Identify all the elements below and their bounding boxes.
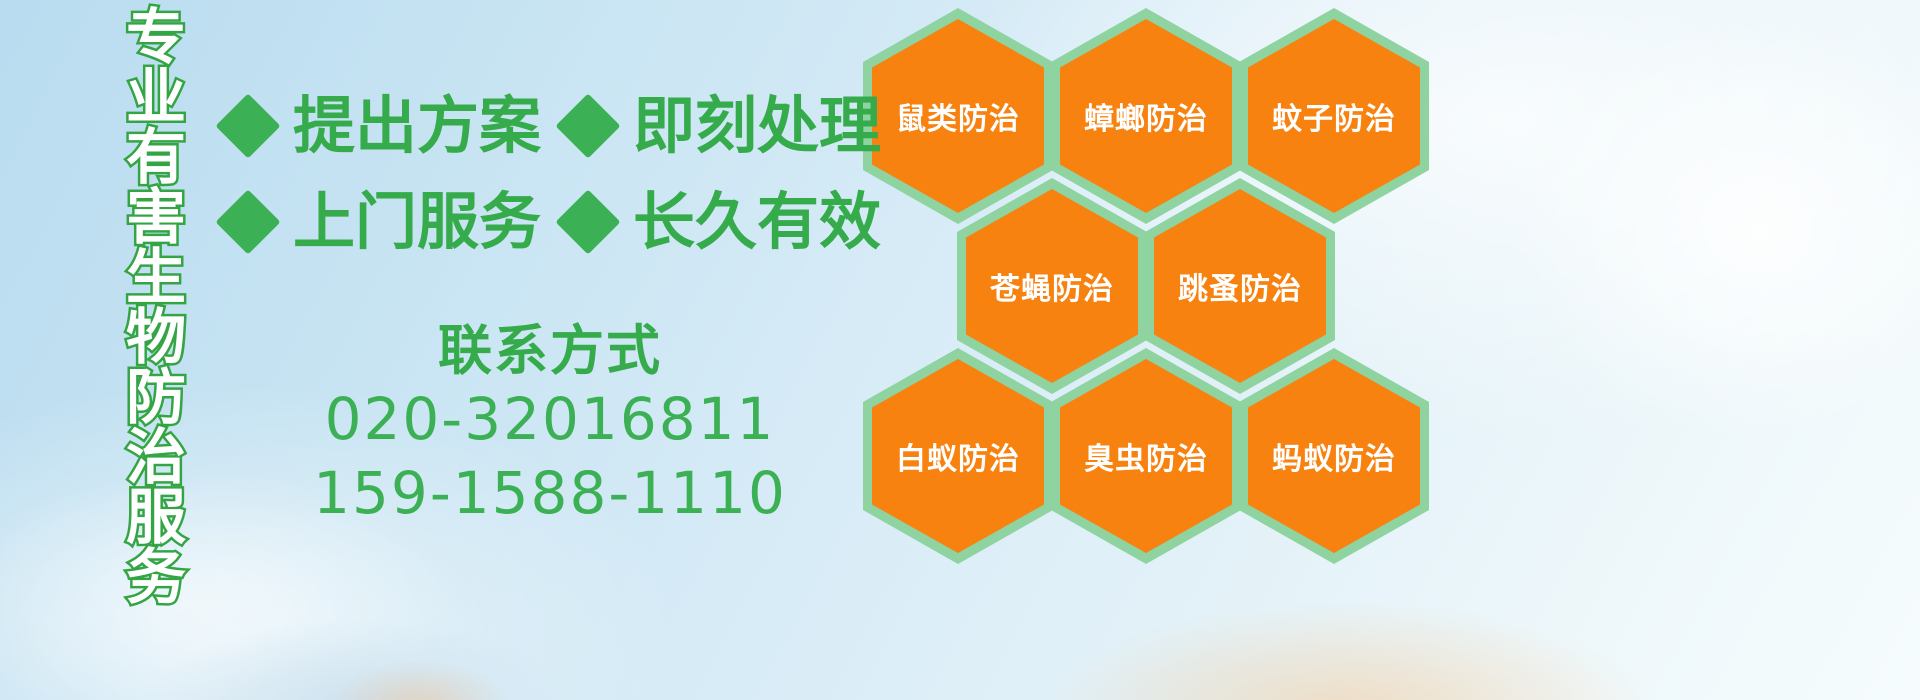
feature-item-onsite-service: 上门服务	[225, 189, 541, 255]
diamond-icon	[215, 189, 280, 254]
background-blotch	[150, 620, 570, 700]
hex-cell-label: 白蚁防治	[896, 434, 1020, 478]
feature-label: 上门服务	[293, 189, 541, 255]
diamond-icon	[555, 189, 620, 254]
feature-item-long-lasting: 长久有效	[565, 189, 881, 255]
vertical-headline-char: 害	[126, 188, 186, 248]
hex-cell-label: 鼠类防治	[896, 94, 1020, 138]
service-honeycomb: 鼠类防治 蟑螂防治 蚊子防治 苍蝇防治 跳蚤防治 白蚁防治	[855, 0, 1455, 700]
vertical-headline-char: 治	[126, 428, 186, 488]
hex-cell-label: 蟑螂防治	[1084, 94, 1208, 138]
contact-title: 联系方式	[300, 320, 800, 382]
contact-phone-mobile[interactable]: 159-1588-1110	[300, 456, 800, 530]
hex-cell-label: 蚊子防治	[1272, 94, 1396, 138]
hex-cell-label: 臭虫防治	[1084, 434, 1208, 478]
hex-cell-ant-control[interactable]: 蚂蚁防治	[1239, 348, 1429, 564]
pest-control-banner: 专 业 有 害 生 物 防 治 服 务 提出方案 即刻处理 上门服务	[0, 0, 1920, 700]
hex-cell-bedbug-control[interactable]: 臭虫防治	[1051, 348, 1241, 564]
contact-block: 联系方式 020-32016811 159-1588-1110	[300, 320, 800, 530]
feature-item-propose-plan: 提出方案	[225, 93, 541, 159]
vertical-headline: 专 业 有 害 生 物 防 治 服 务	[108, 8, 204, 608]
vertical-headline-char: 服	[126, 488, 186, 548]
hex-cell-label: 跳蚤防治	[1178, 264, 1302, 308]
hex-cell-label: 蚂蚁防治	[1272, 434, 1396, 478]
feature-row: 上门服务 长久有效	[225, 174, 881, 270]
diamond-icon	[555, 93, 620, 158]
vertical-headline-char: 物	[126, 308, 186, 368]
feature-list: 提出方案 即刻处理 上门服务 长久有效	[225, 78, 881, 270]
vertical-headline-char: 业	[126, 68, 186, 128]
diamond-icon	[215, 93, 280, 158]
vertical-headline-char: 生	[126, 248, 186, 308]
background-blotch	[330, 660, 510, 700]
feature-label: 即刻处理	[633, 93, 881, 159]
feature-label: 提出方案	[293, 93, 541, 159]
hex-cell-label: 苍蝇防治	[990, 264, 1114, 308]
vertical-headline-char: 有	[126, 128, 186, 188]
contact-phone-landline[interactable]: 020-32016811	[300, 382, 800, 456]
hex-cell-termite-control[interactable]: 白蚁防治	[863, 348, 1053, 564]
feature-item-immediate-handling: 即刻处理	[565, 93, 881, 159]
feature-row: 提出方案 即刻处理	[225, 78, 881, 174]
vertical-headline-char: 防	[126, 368, 186, 428]
feature-label: 长久有效	[633, 189, 881, 255]
background-blotch	[1520, 20, 1920, 440]
vertical-headline-char: 专	[126, 8, 186, 68]
vertical-headline-char: 务	[126, 548, 186, 608]
